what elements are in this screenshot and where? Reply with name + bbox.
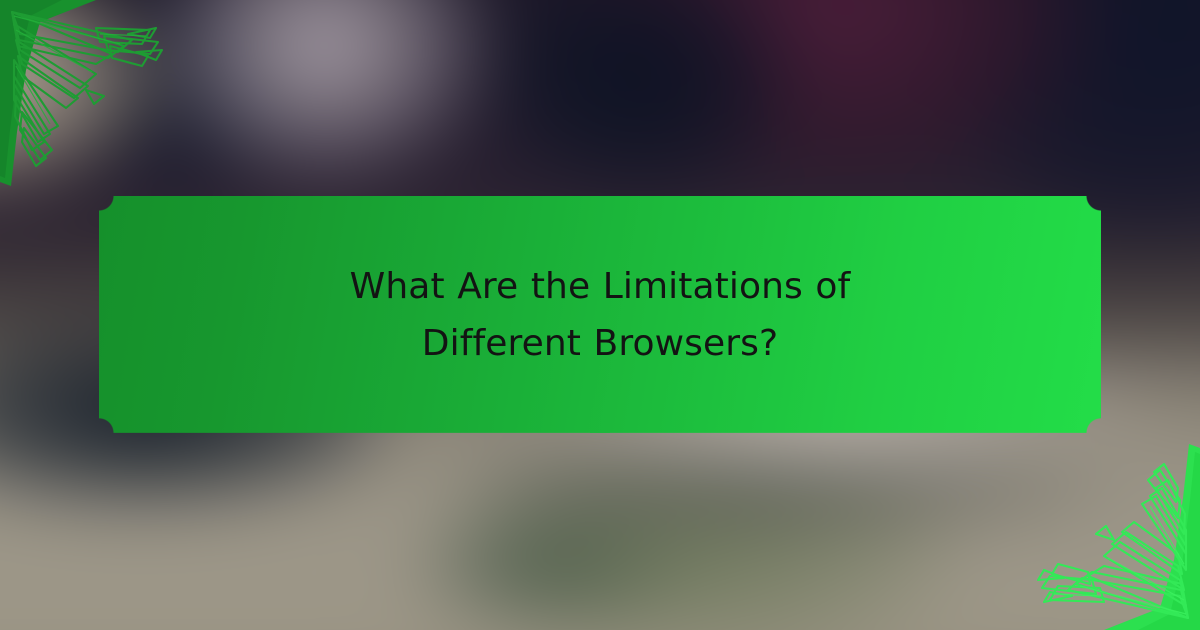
page-title: What Are the Limitations of Different Br… [280, 258, 920, 372]
title-card: What Are the Limitations of Different Br… [99, 196, 1101, 433]
social-card-canvas: What Are the Limitations of Different Br… [0, 0, 1200, 630]
